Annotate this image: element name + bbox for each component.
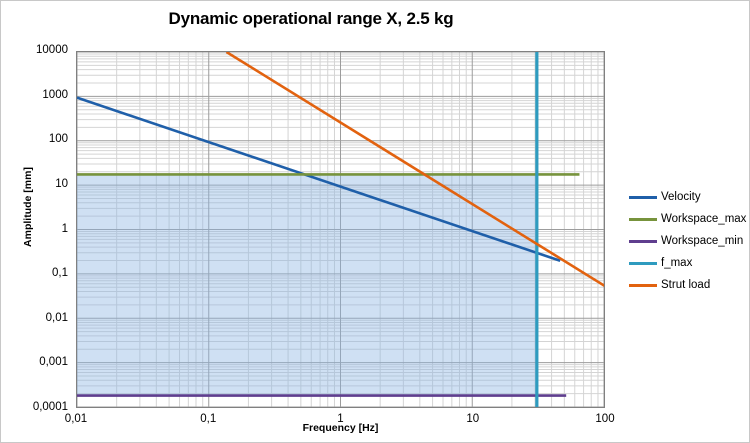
y-tick-label: 0,0001 bbox=[0, 402, 68, 413]
legend-item-workspace-max[interactable]: Workspace_max bbox=[629, 208, 747, 230]
y-tick-label: 10000 bbox=[0, 45, 68, 56]
data-series-layer bbox=[77, 52, 605, 408]
y-axis-title: Amplitude [mm] bbox=[22, 127, 34, 287]
x-tick-label: 1 bbox=[311, 413, 371, 425]
y-tick-label: 1000 bbox=[0, 90, 68, 101]
y-tick-label: 0,1 bbox=[0, 268, 68, 279]
chart-legend: VelocityWorkspace_maxWorkspace_minf_maxS… bbox=[629, 186, 747, 296]
legend-label: Strut load bbox=[661, 279, 710, 291]
y-tick-label: 0,01 bbox=[0, 313, 68, 324]
x-tick-label: 10 bbox=[443, 413, 503, 425]
plot-area bbox=[76, 51, 605, 408]
legend-item-strut-load[interactable]: Strut load bbox=[629, 274, 747, 296]
legend-label: Velocity bbox=[661, 191, 701, 203]
legend-color-swatch bbox=[629, 196, 657, 199]
y-tick-label: 0,001 bbox=[0, 357, 68, 368]
y-tick-label: 100 bbox=[0, 134, 68, 145]
x-tick-label: 100 bbox=[575, 413, 635, 425]
legend-label: f_max bbox=[661, 257, 692, 269]
legend-color-swatch bbox=[629, 262, 657, 265]
legend-label: Workspace_max bbox=[661, 213, 746, 225]
legend-color-swatch bbox=[629, 284, 657, 287]
x-tick-label: 0,01 bbox=[46, 413, 106, 425]
legend-item-workspace-min[interactable]: Workspace_min bbox=[629, 230, 747, 252]
legend-item-velocity[interactable]: Velocity bbox=[629, 186, 747, 208]
series-line-strut-load bbox=[226, 52, 605, 287]
chart-container: Dynamic operational range X, 2.5 kg Ampl… bbox=[0, 0, 750, 443]
x-tick-label: 0,1 bbox=[178, 413, 238, 425]
legend-item-f-max[interactable]: f_max bbox=[629, 252, 747, 274]
series-line-velocity bbox=[77, 98, 560, 261]
legend-color-swatch bbox=[629, 240, 657, 243]
y-tick-label: 1 bbox=[0, 224, 68, 235]
y-tick-label: 10 bbox=[0, 179, 68, 190]
legend-label: Workspace_min bbox=[661, 235, 743, 247]
chart-title: Dynamic operational range X, 2.5 kg bbox=[1, 9, 621, 29]
legend-color-swatch bbox=[629, 218, 657, 221]
